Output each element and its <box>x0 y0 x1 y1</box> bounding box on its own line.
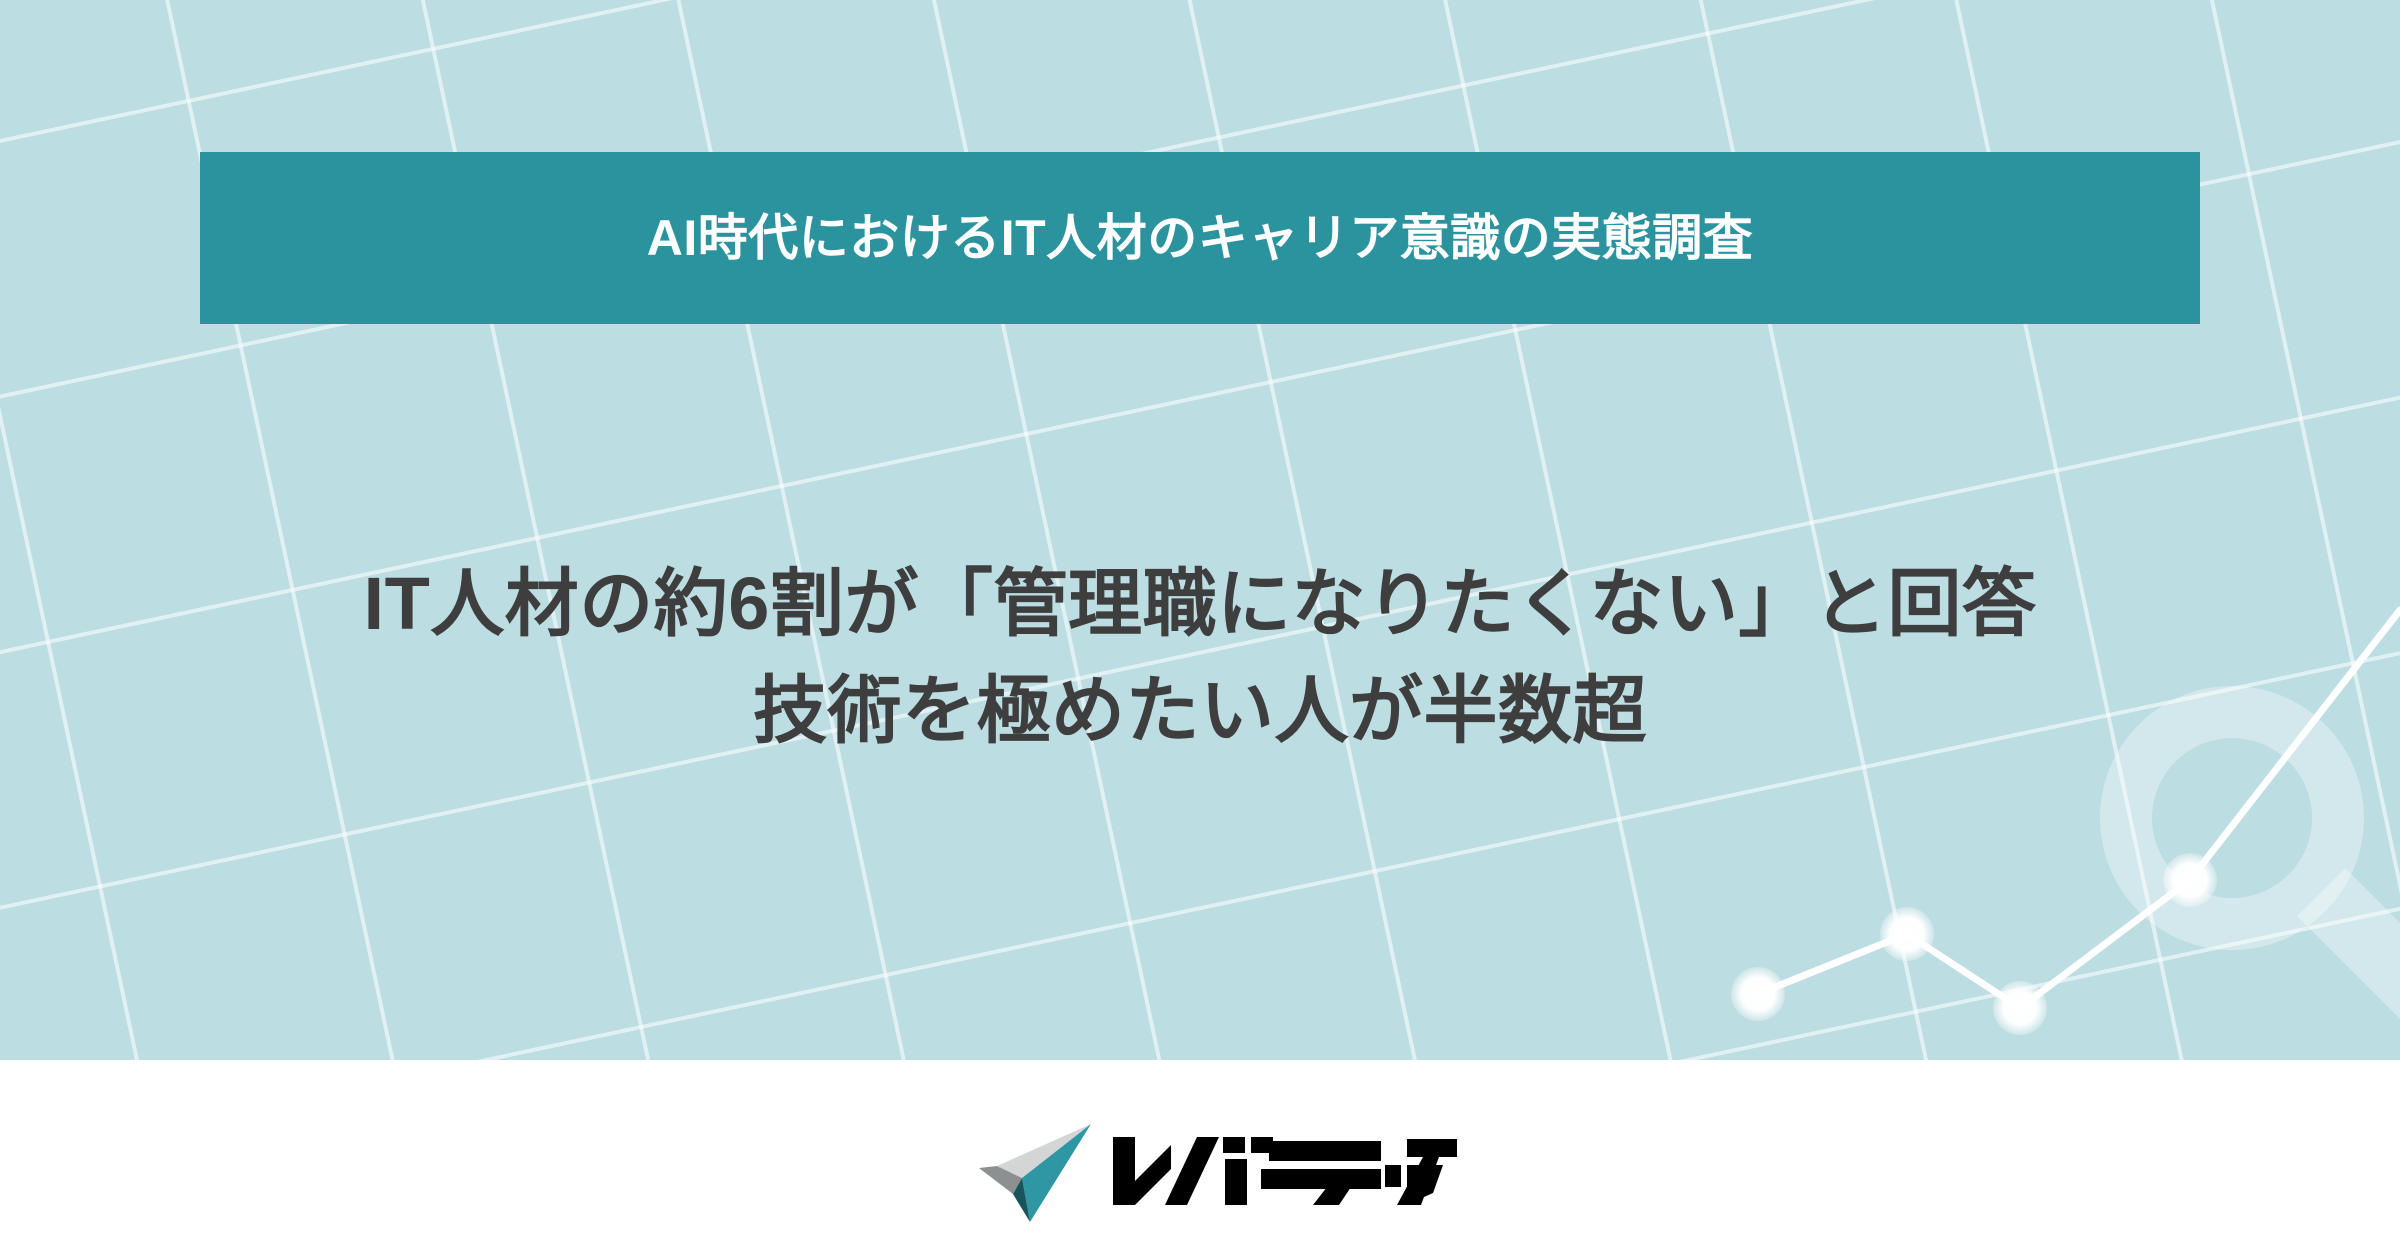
slide-canvas: AI時代におけるIT人材のキャリア意識の実態調査 IT人材の約6割が「管理職にな… <box>0 0 2400 1260</box>
logo-mark-teal <box>1022 1124 1091 1222</box>
banner-title-text: AI時代におけるIT人材のキャリア意識の実態調査 <box>647 213 1753 263</box>
chart-marker <box>2163 853 2217 907</box>
paper-plane-logo-mark <box>975 1122 1093 1226</box>
chart-marker <box>1731 967 1785 1021</box>
levtech-logo: レバテック <box>975 1118 1425 1230</box>
headline-line-2: 技術を極めたい人が半数超 <box>0 657 2400 764</box>
chart-marker <box>1993 981 2047 1035</box>
chart-marker <box>1880 907 1934 961</box>
headline-line-1: IT人材の約6割が「管理職になりたくない」と回答 <box>0 550 2400 657</box>
title-banner: AI時代におけるIT人材のキャリア意識の実態調査 <box>200 152 2200 324</box>
headline-block: IT人材の約6割が「管理職になりたくない」と回答 技術を極めたい人が半数超 <box>0 550 2400 765</box>
levtech-wordmark: レバテック <box>1109 1135 1461 1213</box>
